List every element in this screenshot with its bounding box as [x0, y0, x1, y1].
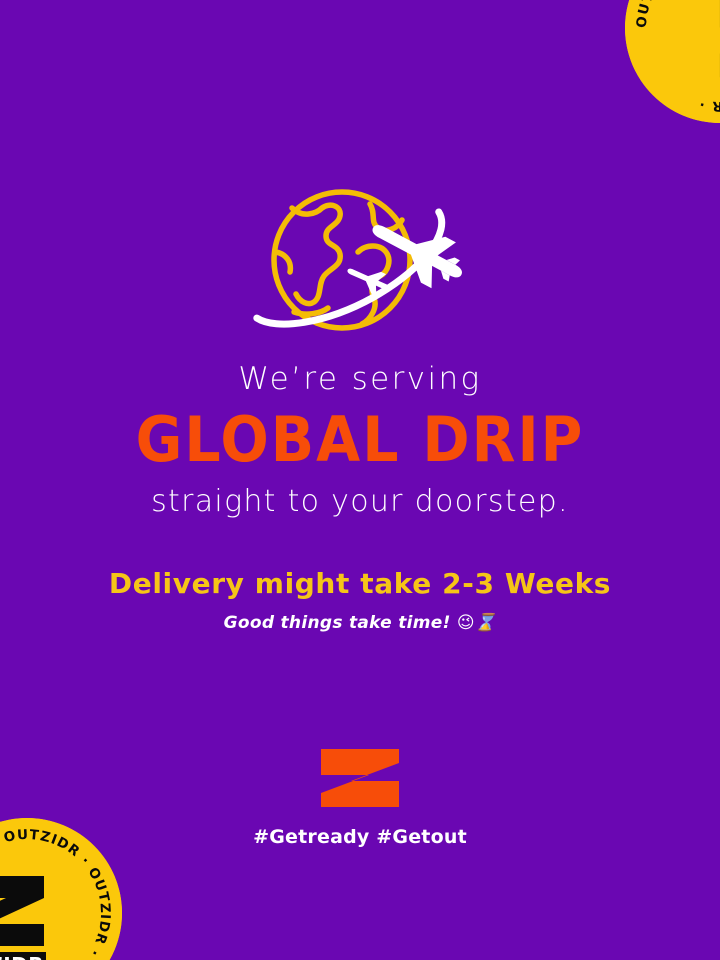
brandmark-block: #Getready #Getout — [0, 749, 720, 848]
z-logo-icon — [321, 749, 399, 807]
copy-block: We’re serving GLOBAL DRIP straight to yo… — [0, 362, 720, 633]
svg-text:OUTZIDR: OUTZIDR — [0, 953, 44, 960]
subhead-text: straight to your doorstep. — [0, 485, 720, 520]
poster-canvas: OUTZIDR · OUTZIDR · OUTZIDR · OUTZIDR · … — [0, 0, 720, 960]
globe-icon — [274, 192, 410, 328]
headline-text: GLOBAL DRIP — [0, 407, 720, 474]
badge-wordmark: OUTZIDR — [0, 952, 46, 960]
hashtags-text: #Getready #Getout — [0, 826, 720, 848]
badge-top-right: OUTZIDR · OUTZIDR · OUTZIDR · OUTZIDR · — [625, 0, 720, 123]
delivery-notice-text: Delivery might take 2-3 Weeks — [0, 567, 720, 600]
globe-airplane-icon — [230, 178, 490, 348]
reassurance-text: Good things take time! 😉⌛ — [0, 613, 720, 633]
eyebrow-text: We’re serving — [0, 362, 720, 398]
